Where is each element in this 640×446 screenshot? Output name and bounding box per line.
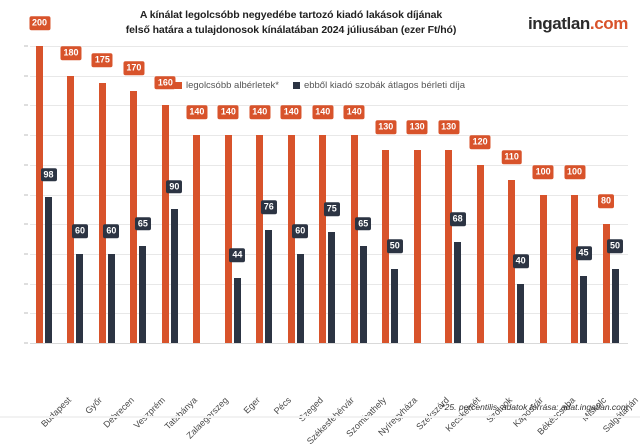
brand-name: ingatlan [528,14,590,33]
bar-secondary[interactable] [391,269,398,343]
bar-value-label: 90 [166,180,182,194]
y-tick-mark-40 [24,283,28,284]
bar-primary[interactable] [571,195,578,344]
bar-primary[interactable] [193,135,200,343]
gridline-180 [30,76,628,77]
bar-value-label: 140 [186,106,207,120]
bar-primary[interactable] [225,135,232,343]
gridline-80 [30,224,628,225]
x-axis-label-text: Debrecen [101,395,136,430]
x-axis-label-text: Budapest [39,395,73,429]
x-axis-label-text: Eger [241,395,262,416]
bar-value-label: 60 [72,224,88,238]
bar-value-label: 75 [324,202,340,216]
bar-value-label: 140 [344,106,365,120]
chart-footnote: *25. percentilis, adatok forrása: adat.i… [441,402,628,412]
bar-value-label: 80 [598,195,614,209]
x-axis-label-text: Pécs [272,395,293,416]
bar-value-label: 100 [533,165,554,179]
chart-container: A kínálat legolcsóbb negyedébe tartozó k… [0,0,640,418]
x-axis-label-text: Győr [84,395,105,416]
bar-secondary[interactable] [360,246,367,343]
bar-secondary[interactable] [517,284,524,343]
bar-primary[interactable] [351,135,358,343]
bar-value-label: 44 [229,248,245,262]
bar-secondary[interactable] [580,276,587,343]
ingatlan-logo: ingatlan.com [528,14,628,34]
bar-value-label: 180 [60,46,81,60]
bar-secondary[interactable] [234,278,241,343]
bar-secondary[interactable] [171,209,178,343]
y-tick-mark-120 [24,164,28,165]
bar-value-label: 110 [501,150,522,164]
y-tick-mark-60 [24,253,28,254]
chart-title-line-1: A kínálat legolcsóbb negyedébe tartozó k… [96,8,486,23]
bar-primary[interactable] [256,135,263,343]
x-axis-label-text: Szeged [296,395,325,424]
bar-value-label: 98 [40,168,56,182]
y-tick-mark-160 [24,105,28,106]
bar-primary[interactable] [288,135,295,343]
bar-value-label: 175 [92,54,113,68]
y-tick-mark-80 [24,224,28,225]
bar-secondary[interactable] [612,269,619,343]
bar-value-label: 120 [470,135,491,149]
bar-value-label: 140 [312,106,333,120]
bar-primary[interactable] [67,76,74,343]
bar-secondary[interactable] [139,246,146,343]
y-tick-mark-200 [24,46,28,47]
y-tick-mark-100 [24,194,28,195]
bar-primary[interactable] [99,83,106,343]
bar-primary[interactable] [477,165,484,343]
bar-primary[interactable] [162,105,169,343]
x-axis-label-text: Veszprém [132,395,167,430]
chart-title: A kínálat legolcsóbb negyedébe tartozó k… [96,8,486,38]
bar-value-label: 45 [576,247,592,261]
bar-value-label: 76 [261,201,277,215]
bar-value-label: 50 [607,239,623,253]
bar-primary[interactable] [319,135,326,343]
bar-value-label: 130 [375,120,396,134]
bar-secondary[interactable] [328,232,335,343]
bar-secondary[interactable] [265,230,272,343]
y-tick-mark-180 [24,75,28,76]
y-tick-mark-140 [24,135,28,136]
plot-area: 02040608010012014016018020020098Budapest… [30,46,628,343]
bar-value-label: 140 [249,106,270,120]
bar-secondary[interactable] [108,254,115,343]
bar-secondary[interactable] [76,254,83,343]
bar-value-label: 200 [29,17,50,31]
bar-secondary[interactable] [454,242,461,343]
gridline-200 [30,46,628,47]
gridline-0 [30,343,628,344]
gridline-100 [30,195,628,196]
bar-value-label: 40 [513,254,529,268]
bar-value-label: 140 [281,106,302,120]
bar-value-label: 140 [218,106,239,120]
bar-primary[interactable] [36,46,43,343]
bar-value-label: 160 [155,76,176,90]
bar-secondary[interactable] [45,197,52,343]
gridline-140 [30,135,628,136]
bar-primary[interactable] [414,150,421,343]
y-tick-mark-0 [24,343,28,344]
bar-value-label: 130 [407,120,428,134]
bar-value-label: 65 [355,217,371,231]
bar-value-label: 65 [135,217,151,231]
bar-value-label: 60 [292,224,308,238]
bar-value-label: 68 [450,213,466,227]
bar-value-label: 60 [103,224,119,238]
bar-value-label: 50 [387,239,403,253]
bar-value-label: 100 [564,165,585,179]
y-tick-mark-20 [24,313,28,314]
bar-value-label: 170 [123,61,144,75]
bar-secondary[interactable] [297,254,304,343]
bar-primary[interactable] [445,150,452,343]
chart-title-line-2: felső határa a tulajdonosok kínálatában … [96,23,486,38]
brand-tld: .com [590,14,628,33]
bar-primary[interactable] [540,195,547,344]
bar-value-label: 130 [438,120,459,134]
